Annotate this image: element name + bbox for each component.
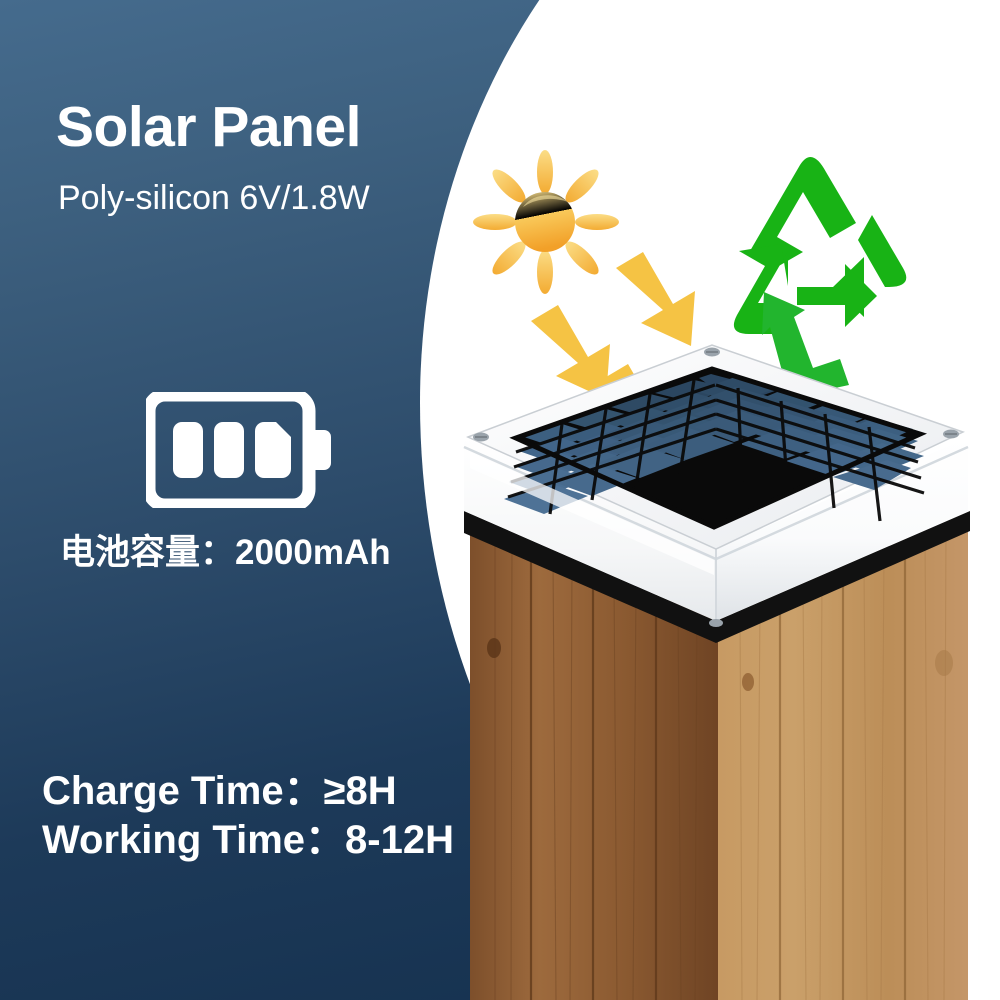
infographic-canvas: Solar Panel Poly-silicon 6V/1.8W 电池容量：20… <box>0 0 1000 1000</box>
working-time-label: Working Time：8-12H <box>42 816 454 865</box>
charge-time-label: Charge Time：≥8H <box>42 767 454 816</box>
battery-three-bars-icon <box>146 392 334 508</box>
page-title: Solar Panel <box>56 98 361 158</box>
battery-capacity-label: 电池容量：2000mAh <box>60 524 391 575</box>
spec-list: Charge Time：≥8H Working Time：8-12H <box>42 767 454 865</box>
page-subtitle: Poly-silicon 6V/1.8W <box>58 178 370 219</box>
